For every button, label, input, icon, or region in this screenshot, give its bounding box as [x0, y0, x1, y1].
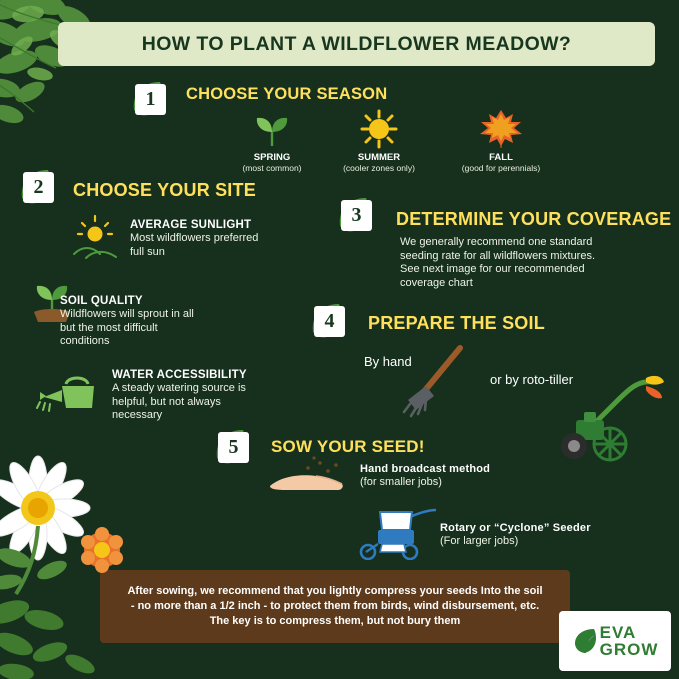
soil-heading: SOIL QUALITY	[60, 295, 143, 307]
step-5-badge: 5	[213, 428, 253, 468]
step-4-number: 4	[314, 306, 345, 337]
marigold-flower-icon	[72, 520, 132, 580]
season-spring-sub: (most common)	[232, 163, 312, 173]
leaf-logo-icon	[572, 626, 598, 656]
footer-note-text: After sowing, we recommend that you ligh…	[127, 584, 542, 629]
water-heading: WATER ACCESSIBILITY	[112, 369, 247, 381]
step-5-title: SOW YOUR SEED!	[271, 437, 425, 457]
hand-sowing-icon	[264, 456, 356, 500]
hand-broadcast-heading: Hand broadcast method	[360, 463, 490, 475]
sun-icon	[355, 108, 403, 150]
step-1-number: 1	[135, 84, 166, 115]
logo-line-2: GROW	[600, 641, 659, 658]
infographic-page: HOW TO PLANT A WILDFLOWER MEADOW? 1 CHOO…	[0, 0, 679, 679]
step-1-title: CHOOSE YOUR SEASON	[186, 85, 387, 104]
step-4-title: PREPARE THE SOIL	[368, 313, 545, 334]
step-1-badge: 1	[130, 80, 170, 120]
water-body: A steady watering source is helpful, but…	[112, 382, 352, 423]
rake-icon	[396, 342, 472, 418]
page-title: HOW TO PLANT A WILDFLOWER MEADOW?	[142, 33, 572, 56]
sunlight-body: Most wildflowers preferred full sun	[130, 232, 360, 259]
step-3-title: DETERMINE YOUR COVERAGE	[396, 209, 671, 230]
logo-line-1: EVA	[600, 624, 659, 641]
season-summer-sub: (cooler zones only)	[324, 163, 434, 173]
season-fall-sub: (good for perennials)	[441, 163, 561, 173]
season-fall-label: FALL	[466, 152, 536, 163]
season-spring-label: SPRING	[232, 152, 312, 163]
step-3-badge: 3	[336, 196, 376, 236]
rotary-seeder-heading: Rotary or “Cyclone” Seeder	[440, 522, 591, 534]
step-2-title: CHOOSE YOUR SITE	[73, 180, 256, 201]
rotary-seeder-sub: (For larger jobs)	[440, 535, 640, 549]
brand-logo: EVA GROW	[559, 611, 671, 671]
sunlight-heading: AVERAGE SUNLIGHT	[130, 219, 251, 231]
soil-body: Wildflowers will sprout in all but the m…	[60, 308, 290, 349]
maple-leaf-icon	[477, 108, 525, 150]
roto-tiller-icon	[548, 368, 666, 468]
foliage-bottom-left-icon	[0, 590, 114, 679]
season-summer-label: SUMMER	[334, 152, 424, 163]
step-4-badge: 4	[309, 302, 349, 342]
seed-spreader-icon	[352, 508, 438, 560]
sun-over-field-icon	[66, 212, 124, 260]
step-5-number: 5	[218, 432, 249, 463]
step-2-badge: 2	[18, 168, 58, 208]
step-3-number: 3	[341, 200, 372, 231]
watering-can-icon	[36, 372, 102, 416]
hand-broadcast-sub: (for smaller jobs)	[360, 476, 560, 490]
step-3-body: We generally recommend one standard seed…	[400, 236, 679, 290]
step-2-number: 2	[23, 172, 54, 203]
header-banner: HOW TO PLANT A WILDFLOWER MEADOW?	[58, 22, 655, 66]
footer-note-box: After sowing, we recommend that you ligh…	[100, 570, 570, 643]
sprout-icon	[250, 112, 294, 148]
